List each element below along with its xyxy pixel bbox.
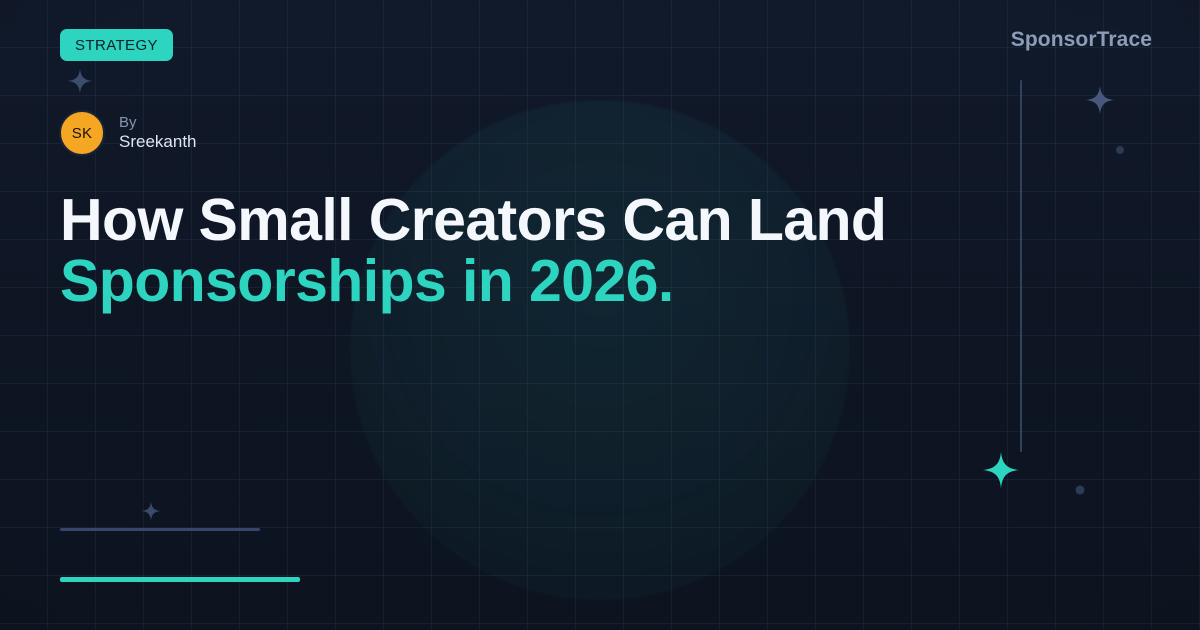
og-card: SponsorTrace STRATEGY SK By Sreekanth Ho… [0, 0, 1200, 630]
byline-text: By Sreekanth [119, 114, 197, 152]
avatar: SK [59, 110, 105, 156]
page-title-line-2: Sponsorships in 2026. [60, 251, 940, 312]
brand-name: SponsorTrace [1011, 28, 1152, 52]
category-badge[interactable]: STRATEGY [60, 29, 173, 61]
page-title-line-1: How Small Creators Can Land [60, 190, 940, 251]
byline-author: Sreekanth [119, 132, 197, 152]
page-title: How Small Creators Can Land Sponsorships… [60, 190, 940, 312]
byline: SK By Sreekanth [59, 110, 197, 156]
content-layer: SponsorTrace STRATEGY SK By Sreekanth Ho… [0, 0, 1200, 630]
byline-by-label: By [119, 114, 197, 132]
